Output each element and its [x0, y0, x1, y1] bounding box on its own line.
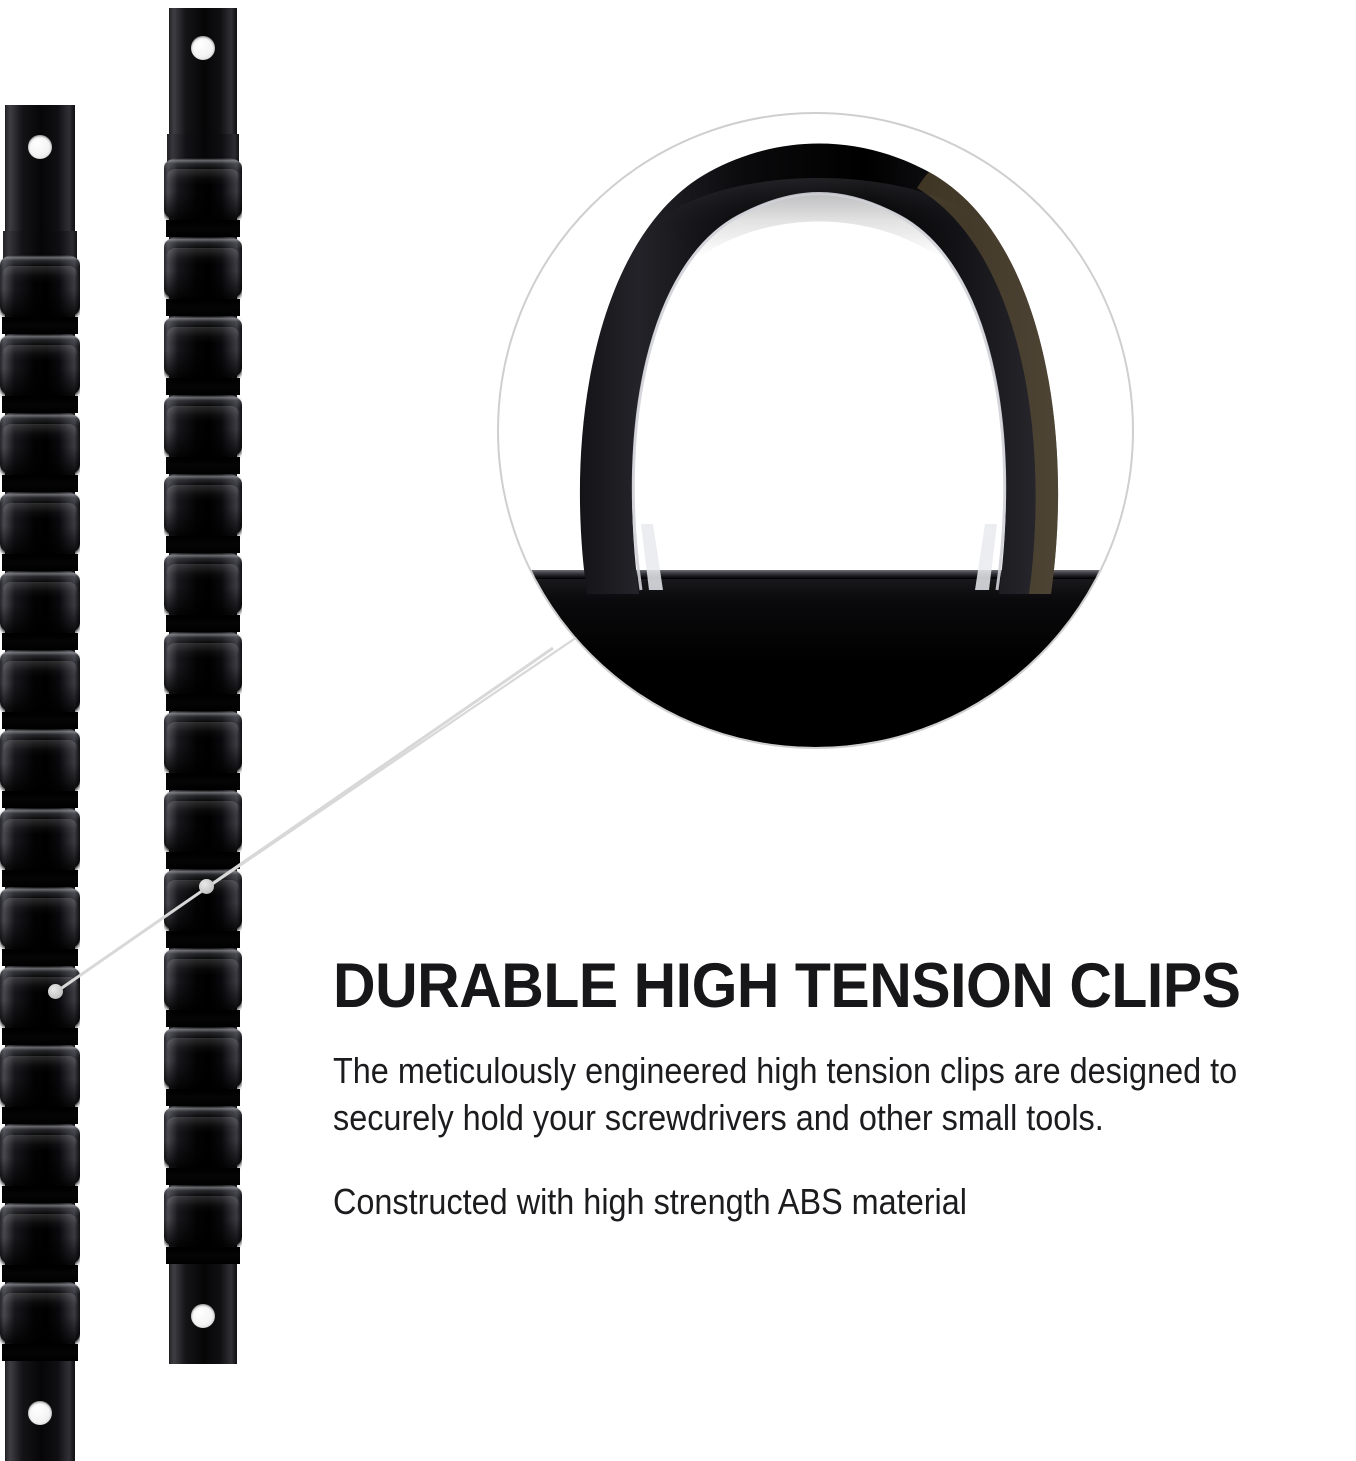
feature-paragraph-2: Constructed with high strength ABS mater…	[333, 1179, 1355, 1226]
clip-gap	[166, 536, 241, 553]
feature-paragraph-1: The meticulously engineered high tension…	[333, 1048, 1355, 1142]
right-rail-bottom-screw-hole	[191, 1304, 215, 1328]
clip-gap	[166, 220, 241, 237]
clip-gap	[2, 712, 79, 729]
tool-clip	[0, 729, 80, 791]
clip-gap	[2, 475, 79, 492]
tool-clip	[164, 1027, 242, 1089]
left-rail-body	[0, 105, 80, 1461]
tool-clip	[164, 1185, 242, 1247]
tool-clip	[0, 571, 80, 633]
clip-gap	[166, 1168, 241, 1185]
tool-clip	[0, 887, 80, 949]
clip-gap	[166, 1247, 241, 1264]
clip-closeup-circle	[497, 112, 1134, 749]
left-rail-top-screw-hole	[28, 135, 52, 159]
tool-clip	[0, 413, 80, 475]
clip-gap	[166, 299, 241, 316]
tool-clip	[164, 158, 242, 220]
tool-clip	[164, 632, 242, 694]
clip-gap	[2, 633, 79, 650]
tool-clip	[0, 650, 80, 712]
tool-clip	[164, 316, 242, 378]
product-feature-image: DURABLE HIGH TENSION CLIPS The meticulou…	[0, 0, 1356, 1461]
tool-clip	[0, 966, 80, 1028]
tool-clip	[164, 553, 242, 615]
closeup-arch-right-glint	[975, 524, 997, 590]
clip-gap	[2, 791, 79, 808]
clip-gap	[166, 615, 241, 632]
page-title: DURABLE HIGH TENSION CLIPS	[333, 955, 1240, 1018]
clip-gap	[166, 1010, 241, 1027]
left-rail	[0, 105, 80, 1461]
tool-clip	[164, 869, 242, 931]
tool-clip	[164, 948, 242, 1010]
tool-clip	[0, 1045, 80, 1107]
tool-clip	[164, 237, 242, 299]
tool-clip	[164, 474, 242, 536]
clip-gap	[2, 396, 79, 413]
tool-clip	[0, 1282, 80, 1344]
tool-clip	[0, 1203, 80, 1265]
tool-clip	[164, 711, 242, 773]
clip-gap	[166, 694, 241, 711]
right-rail-body	[164, 8, 242, 1364]
clip-gap	[2, 870, 79, 887]
clip-gap	[166, 457, 241, 474]
tool-clip	[0, 255, 80, 317]
clip-gap	[2, 1028, 79, 1045]
clip-gap	[166, 773, 241, 790]
callout-dot-left-rail	[48, 984, 63, 999]
feature-description: The meticulously engineered high tension…	[333, 1048, 1355, 1226]
callout-dot-right-rail	[199, 879, 214, 894]
tool-clip	[164, 395, 242, 457]
clip-gap	[2, 1265, 79, 1282]
left-rail-bottom-screw-hole	[28, 1401, 52, 1425]
clip-gap	[166, 378, 241, 395]
clip-gap	[2, 949, 79, 966]
closeup-base-bar	[497, 576, 1134, 749]
tool-clip	[0, 808, 80, 870]
tool-clip	[0, 334, 80, 396]
right-rail-top-screw-hole	[191, 36, 215, 60]
callout-line-lower	[56, 648, 553, 992]
clip-gap	[2, 554, 79, 571]
tool-clip	[0, 1124, 80, 1186]
tool-clip	[164, 1106, 242, 1168]
right-rail	[164, 8, 242, 1364]
clip-gap	[166, 852, 241, 869]
clip-gap	[2, 317, 79, 334]
left-rail-top-tab	[6, 105, 73, 245]
clip-gap	[166, 931, 241, 948]
tool-clip	[0, 492, 80, 554]
tool-clip	[164, 790, 242, 852]
closeup-arch-left-glint	[641, 524, 663, 590]
right-rail-top-tab	[170, 8, 236, 148]
clip-gap	[2, 1107, 79, 1124]
clip-gap	[2, 1344, 79, 1361]
clip-gap	[2, 1186, 79, 1203]
clip-gap	[166, 1089, 241, 1106]
closeup-clip-arch	[529, 124, 1109, 594]
